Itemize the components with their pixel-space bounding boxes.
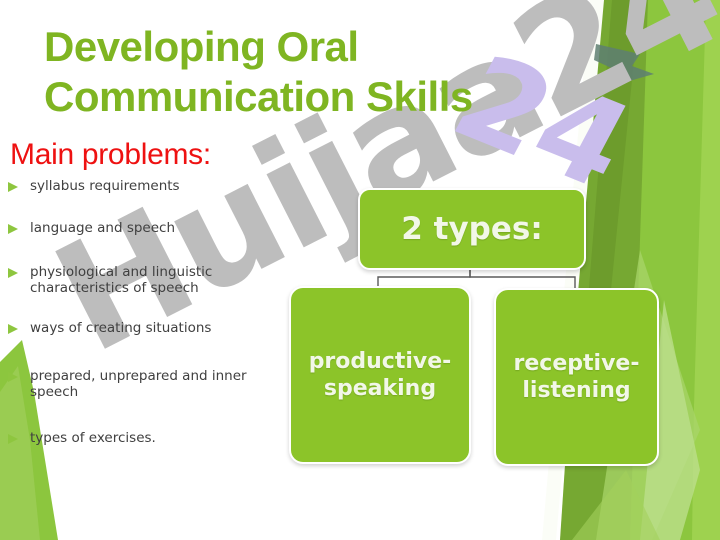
diagram-node-root[interactable]: 2 types: <box>358 188 586 270</box>
diagram-node-receptive[interactable]: receptive-listening <box>494 288 659 466</box>
types-diagram: 2 types: productive-speaking receptive-l… <box>0 0 720 540</box>
diagram-node-productive[interactable]: productive-speaking <box>289 286 471 464</box>
diagram-node-receptive-label: receptive-listening <box>496 350 657 404</box>
diagram-node-productive-label: productive-speaking <box>291 348 469 402</box>
diagram-node-root-label: 2 types: <box>401 211 542 247</box>
slide-canvas: Huijaa24 24 Developing Oral Communicatio… <box>0 0 720 540</box>
